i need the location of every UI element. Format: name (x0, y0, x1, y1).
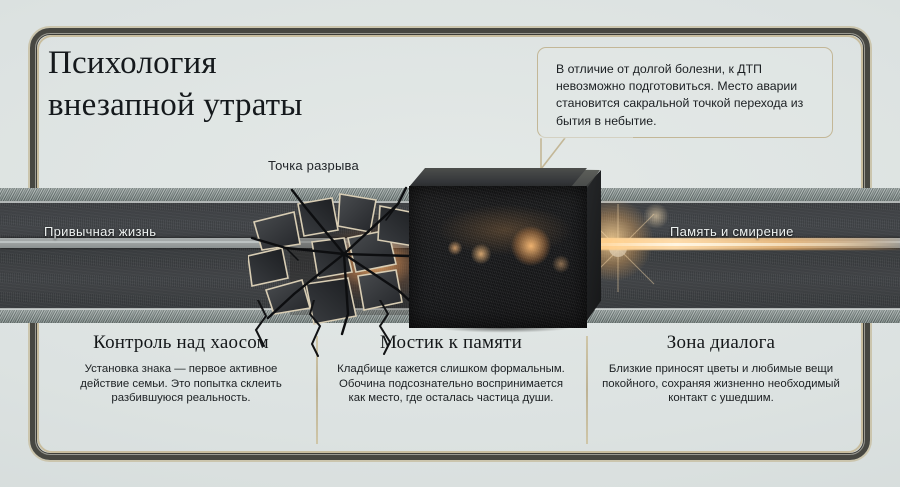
column-control-over-chaos: Контроль над хаосом Установка знака — пе… (46, 332, 316, 444)
callout-box: В отличие от долгой болезни, к ДТП невоз… (537, 47, 833, 138)
column-divider-1 (316, 336, 318, 444)
column-heading: Контроль над хаосом (60, 332, 302, 354)
callout-text: В отличие от долгой болезни, к ДТП невоз… (556, 61, 818, 130)
monument-side-face (586, 170, 601, 322)
road-label-left: Привычная жизнь (44, 224, 156, 239)
page-title: Психология внезапной утраты (48, 42, 468, 126)
infographic-canvas: Психология внезапной утраты В отличие от… (0, 0, 900, 487)
impact-point-label: Точка разрыва (268, 158, 359, 173)
page-title-line-2: внезапной утраты (48, 84, 468, 126)
columns-row: Контроль над хаосом Установка знака — пе… (46, 332, 856, 444)
column-bridge-to-memory: Мостик к памяти Кладбище кажется слишком… (316, 332, 586, 444)
column-heading: Зона диалога (600, 332, 842, 354)
column-heading: Мостик к памяти (330, 332, 572, 354)
granite-monument-block (400, 168, 600, 330)
column-divider-2 (586, 336, 588, 444)
column-body: Близкие приносят цветы и любимые вещи по… (600, 362, 842, 406)
monument-front-face (409, 186, 587, 328)
road-label-right: Память и смирение (670, 224, 794, 239)
page-title-line-1: Психология (48, 42, 468, 84)
monument-top-face (409, 168, 587, 187)
column-body: Кладбище кажется слишком формальным. Обо… (330, 362, 572, 406)
column-dialogue-zone: Зона диалога Близкие приносят цветы и лю… (586, 332, 856, 444)
column-body: Установка знака — первое активное действ… (60, 362, 302, 406)
glow-streak-core (580, 243, 900, 246)
